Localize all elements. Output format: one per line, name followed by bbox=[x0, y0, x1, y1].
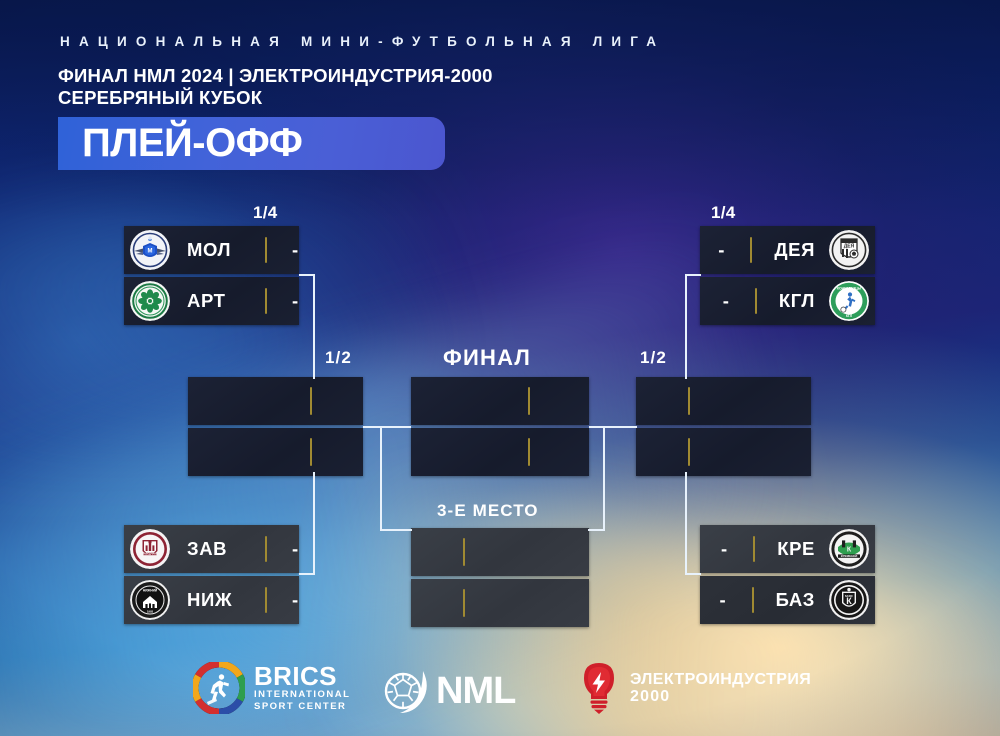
team-name: НИЖ bbox=[187, 589, 261, 611]
brics-logo: BRICS INTERNATIONAL SPORT CENTER bbox=[193, 662, 350, 714]
connector bbox=[313, 472, 315, 575]
connector bbox=[380, 529, 412, 531]
score-divider bbox=[753, 536, 755, 562]
team-score: - bbox=[292, 290, 298, 312]
table-row[interactable]: - ДЕЯ ДЕЯ bbox=[700, 226, 875, 274]
match-semi-right[interactable] bbox=[636, 377, 811, 476]
team-name: ДЕЯ bbox=[774, 239, 815, 261]
score-divider bbox=[688, 387, 690, 415]
nml-logo: NML bbox=[382, 667, 515, 715]
svg-text:КРЕМЕНКИ: КРЕМЕНКИ bbox=[841, 554, 858, 558]
kgl-badge: КОНГОЛЕЗЦЫ КГЛ bbox=[829, 281, 869, 321]
score-divider bbox=[752, 587, 754, 613]
table-row[interactable]: - КРЕ К КРЕМЕНКИ bbox=[700, 525, 875, 573]
score-divider bbox=[528, 387, 530, 415]
score-divider bbox=[265, 237, 267, 263]
connector bbox=[685, 274, 701, 276]
match-quarter-right-top[interactable]: - ДЕЯ ДЕЯ - КГЛ bbox=[700, 226, 875, 325]
art-badge bbox=[130, 281, 170, 321]
score-divider bbox=[463, 589, 465, 617]
nml-name: NML bbox=[436, 672, 515, 710]
match-quarter-right-bottom[interactable]: - КРЕ К КРЕМЕНКИ - БАЗ bbox=[700, 525, 875, 624]
svg-text:БАЗИС: БАЗИС bbox=[845, 595, 853, 598]
league-name: НАЦИОНАЛЬНАЯ МИНИ-ФУТБОЛЬНАЯ ЛИГА bbox=[60, 34, 665, 49]
team-name: БАЗ bbox=[776, 589, 815, 611]
table-row[interactable]: НИЖНИЙ 1993 НИЖ - bbox=[124, 576, 299, 624]
match-quarter-left-top[interactable]: М МОЛ - bbox=[124, 226, 299, 325]
table-row[interactable]: М МОЛ - bbox=[124, 226, 299, 274]
label-quarter-right: 1/4 bbox=[711, 203, 736, 223]
score-divider bbox=[528, 438, 530, 466]
title-block: ФИНАЛ НМЛ 2024 | ЭЛЕКТРОИНДУСТРИЯ-2000 С… bbox=[58, 66, 493, 107]
score-divider bbox=[310, 438, 312, 466]
team-name: ЗАВ bbox=[187, 538, 261, 560]
title-line-1: ФИНАЛ НМЛ 2024 | ЭЛЕКТРОИНДУСТРИЯ-2000 bbox=[58, 66, 493, 85]
connector bbox=[588, 529, 605, 531]
table-row[interactable] bbox=[411, 377, 589, 425]
match-third-place[interactable] bbox=[411, 528, 589, 627]
table-row[interactable]: - КГЛ КОНГОЛЕЗЦЫ КГЛ bbox=[700, 277, 875, 325]
table-row[interactable] bbox=[411, 428, 589, 476]
score-divider bbox=[265, 587, 267, 613]
score-divider bbox=[750, 237, 752, 263]
match-quarter-left-bottom[interactable]: ЗАВОДЧАНЕ ЗАВ - НИЖНИЙ bbox=[124, 525, 299, 624]
zav-badge: ЗАВОДЧАНЕ bbox=[130, 529, 170, 569]
match-semi-left[interactable] bbox=[188, 377, 363, 476]
match-final[interactable] bbox=[411, 377, 589, 476]
table-row[interactable] bbox=[188, 377, 363, 425]
team-score: - bbox=[721, 538, 727, 560]
connector bbox=[380, 426, 382, 531]
label-final: ФИНАЛ bbox=[443, 345, 531, 371]
connector bbox=[313, 274, 315, 379]
svg-text:1993: 1993 bbox=[147, 610, 154, 614]
lightbulb-bolt-icon bbox=[577, 662, 621, 714]
playoff-banner: ПЛЕЙ-ОФФ bbox=[58, 117, 445, 170]
table-row[interactable] bbox=[636, 377, 811, 425]
connector bbox=[603, 426, 605, 531]
connector bbox=[589, 426, 637, 428]
svg-text:М: М bbox=[148, 249, 153, 255]
score-divider bbox=[265, 536, 267, 562]
label-quarter-left: 1/4 bbox=[253, 203, 278, 223]
connector bbox=[685, 573, 701, 575]
team-name: МОЛ bbox=[187, 239, 261, 261]
svg-text:НИЖНИЙ: НИЖНИЙ bbox=[143, 588, 158, 592]
svg-text:ДЕЯ: ДЕЯ bbox=[844, 244, 855, 250]
score-divider bbox=[310, 387, 312, 415]
connector bbox=[363, 426, 411, 428]
table-row[interactable]: - БАЗ К БАЗИС bbox=[700, 576, 875, 624]
nml-ball-icon bbox=[382, 667, 430, 715]
label-semi-left: 1/2 bbox=[325, 348, 352, 368]
connector bbox=[685, 274, 687, 379]
playoff-banner-label: ПЛЕЙ-ОФФ bbox=[58, 123, 302, 163]
label-third-place: 3-Е МЕСТО bbox=[437, 501, 539, 521]
brics-text-block: BRICS INTERNATIONAL SPORT CENTER bbox=[254, 664, 350, 713]
connector bbox=[685, 472, 687, 575]
svg-text:К: К bbox=[847, 547, 852, 554]
team-score: - bbox=[723, 290, 729, 312]
svg-text:КОНГОЛЕЗЦЫ: КОНГОЛЕЗЦЫ bbox=[837, 287, 862, 291]
brics-subtitle-1: INTERNATIONAL bbox=[254, 689, 350, 701]
label-semi-right: 1/2 bbox=[640, 348, 667, 368]
table-row[interactable]: ЗАВОДЧАНЕ ЗАВ - bbox=[124, 525, 299, 573]
score-divider bbox=[755, 288, 757, 314]
dea-badge: ДЕЯ bbox=[829, 230, 869, 270]
brics-subtitle-2: SPORT CENTER bbox=[254, 701, 350, 713]
team-score: - bbox=[292, 589, 298, 611]
table-row[interactable] bbox=[411, 579, 589, 627]
baz-badge: К БАЗИС bbox=[829, 580, 869, 620]
team-score: - bbox=[292, 538, 298, 560]
team-score: - bbox=[719, 589, 725, 611]
team-name: КРЕ bbox=[777, 538, 815, 560]
footer: BRICS INTERNATIONAL SPORT CENTER bbox=[0, 640, 1000, 736]
table-row[interactable] bbox=[188, 428, 363, 476]
electro-line-1: ЭЛЕКТРОИНДУСТРИЯ bbox=[630, 671, 811, 688]
electro-text-block: ЭЛЕКТРОИНДУСТРИЯ 2000 bbox=[630, 671, 811, 705]
title-line-2: СЕРЕБРЯНЫЙ КУБОК bbox=[58, 88, 493, 107]
score-divider bbox=[463, 538, 465, 566]
svg-text:КГЛ: КГЛ bbox=[846, 314, 853, 318]
team-name: АРТ bbox=[187, 290, 261, 312]
bracket: 1/4 1/4 1/2 1/2 ФИНАЛ 3-Е МЕСТО М bbox=[0, 0, 1000, 736]
nizh-badge: НИЖНИЙ 1993 bbox=[130, 580, 170, 620]
table-row[interactable] bbox=[411, 528, 589, 576]
brics-name: BRICS bbox=[254, 664, 350, 689]
table-row[interactable]: АРТ - bbox=[124, 277, 299, 325]
mol-badge: М bbox=[130, 230, 170, 270]
electro-logo: ЭЛЕКТРОИНДУСТРИЯ 2000 bbox=[577, 662, 811, 714]
table-row[interactable] bbox=[636, 428, 811, 476]
score-divider bbox=[688, 438, 690, 466]
electro-line-2: 2000 bbox=[630, 688, 811, 705]
brics-runner-icon bbox=[193, 662, 245, 714]
kre-badge: К КРЕМЕНКИ bbox=[829, 529, 869, 569]
svg-text:ЗАВОДЧАНЕ: ЗАВОДЧАНЕ bbox=[142, 553, 158, 556]
team-score: - bbox=[718, 239, 724, 261]
score-divider bbox=[265, 288, 267, 314]
team-score: - bbox=[292, 239, 298, 261]
team-name: КГЛ bbox=[779, 290, 815, 312]
